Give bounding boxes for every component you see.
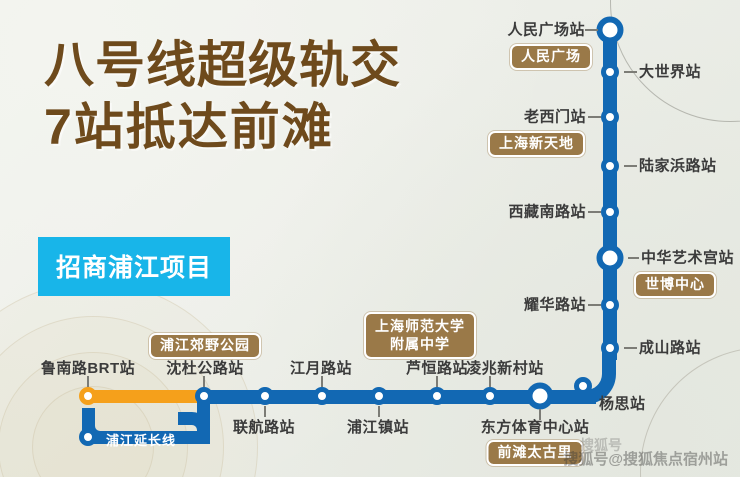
station-dot-xizang-nan-lu[interactable] <box>601 203 619 221</box>
station-label-laoximen: 老西门站 <box>524 106 586 127</box>
station-label-jiangyue-lu: 江月路站 <box>290 357 352 378</box>
station-dot-pujiang-zhen[interactable] <box>370 387 388 405</box>
tick-dashijie <box>624 71 637 73</box>
tick-chengshan-lu <box>624 347 637 349</box>
station-label-yangsi: 杨思站 <box>599 393 646 414</box>
station-dot-dongfang-tiyu-zhongxin[interactable] <box>527 383 554 410</box>
station-label-lianhang-lu: 联航路站 <box>233 416 295 437</box>
headline-line-2: 7站抵达前滩 <box>44 96 401 158</box>
station-label-shendu-gonglu: 沈杜公路站 <box>166 357 244 378</box>
station-dot-luheng-lu[interactable] <box>428 387 446 405</box>
project-badge[interactable]: 招商浦江项目 <box>38 237 230 296</box>
station-label-zhonghua-yishugong: 中华艺术宫站 <box>641 247 734 268</box>
headline-line-1: 八号线超级轨交 <box>44 34 401 96</box>
headline-block: 八号线超级轨交 7站抵达前滩 <box>44 34 401 158</box>
badge-shibo-zhongxin: 世博中心 <box>634 272 716 298</box>
station-label-lunan-lu-brt: 鲁南路BRT站 <box>41 357 135 378</box>
station-label-dongfang-tiyu-zhongxin: 东方体育中心站 <box>481 416 590 437</box>
station-dot-yaohua-lu[interactable] <box>601 296 619 314</box>
badge-renmin-guangchang: 人民广场 <box>510 44 592 70</box>
station-dot-chengshan-lu[interactable] <box>601 339 619 357</box>
tick-xizang-nan-lu <box>588 211 601 213</box>
badge-pujiang-jiaoye-gongyuan: 浦江郊野公园 <box>149 333 261 359</box>
badge-shishida-fuzhong: 上海师范大学 附属中学 <box>364 312 476 359</box>
badge-shanghai-xintiandi: 上海新天地 <box>488 131 585 157</box>
station-label-dashijie: 大世界站 <box>639 61 701 82</box>
tick-yaohua-lu <box>588 304 601 306</box>
station-label-renmin-guangchang: 人民广场站 <box>507 19 585 40</box>
tick-renmin-guangchang <box>585 29 598 31</box>
tick-zhonghua-yishugong <box>628 257 639 259</box>
station-dot-branch-terminus[interactable] <box>79 428 97 446</box>
tick-lujiabang <box>624 165 637 167</box>
station-label-chengshan-lu: 成山路站 <box>639 337 701 358</box>
station-label-pujiang-zhen: 浦江镇站 <box>347 416 409 437</box>
station-dot-lunan-lu-brt[interactable] <box>79 387 97 405</box>
station-dot-jiangyue-lu[interactable] <box>313 387 331 405</box>
station-dot-shendu-gonglu[interactable] <box>195 387 213 405</box>
branch-line-name: 浦江延长线 <box>106 430 176 449</box>
watermark-faint-text: 搜狐号 <box>580 435 622 455</box>
station-dot-dashijie[interactable] <box>601 63 619 81</box>
station-dot-renmin-guangchang[interactable] <box>597 17 624 44</box>
badge-shishida-line2: 附属中学 <box>375 335 465 353</box>
station-label-lingzhao-xincun: 凌兆新村站 <box>466 357 544 378</box>
station-dot-yangsi[interactable] <box>574 377 592 395</box>
station-dot-laoximen[interactable] <box>601 108 619 126</box>
station-label-yaohua-lu: 耀华路站 <box>524 294 586 315</box>
station-label-xizang-nan-lu: 西藏南路站 <box>508 201 586 222</box>
line-segment-orange-brt <box>88 390 210 403</box>
station-dot-lianhang-lu[interactable] <box>256 387 274 405</box>
badge-shishida-line1: 上海师范大学 <box>375 317 465 335</box>
station-dot-zhonghua-yishugong[interactable] <box>597 245 624 272</box>
station-dot-lingzhao-xincun[interactable] <box>481 387 499 405</box>
tick-laoximen <box>588 116 601 118</box>
metro-line-infographic: 八号线超级轨交 7站抵达前滩 招商浦江项目 浦江延长线 人民广场站 大世界站 老… <box>0 0 740 477</box>
station-label-lujiabang-lu: 陆家浜路站 <box>639 155 717 176</box>
station-dot-lujiabang-lu[interactable] <box>601 157 619 175</box>
station-label-luheng-lu: 芦恒路站 <box>406 357 468 378</box>
